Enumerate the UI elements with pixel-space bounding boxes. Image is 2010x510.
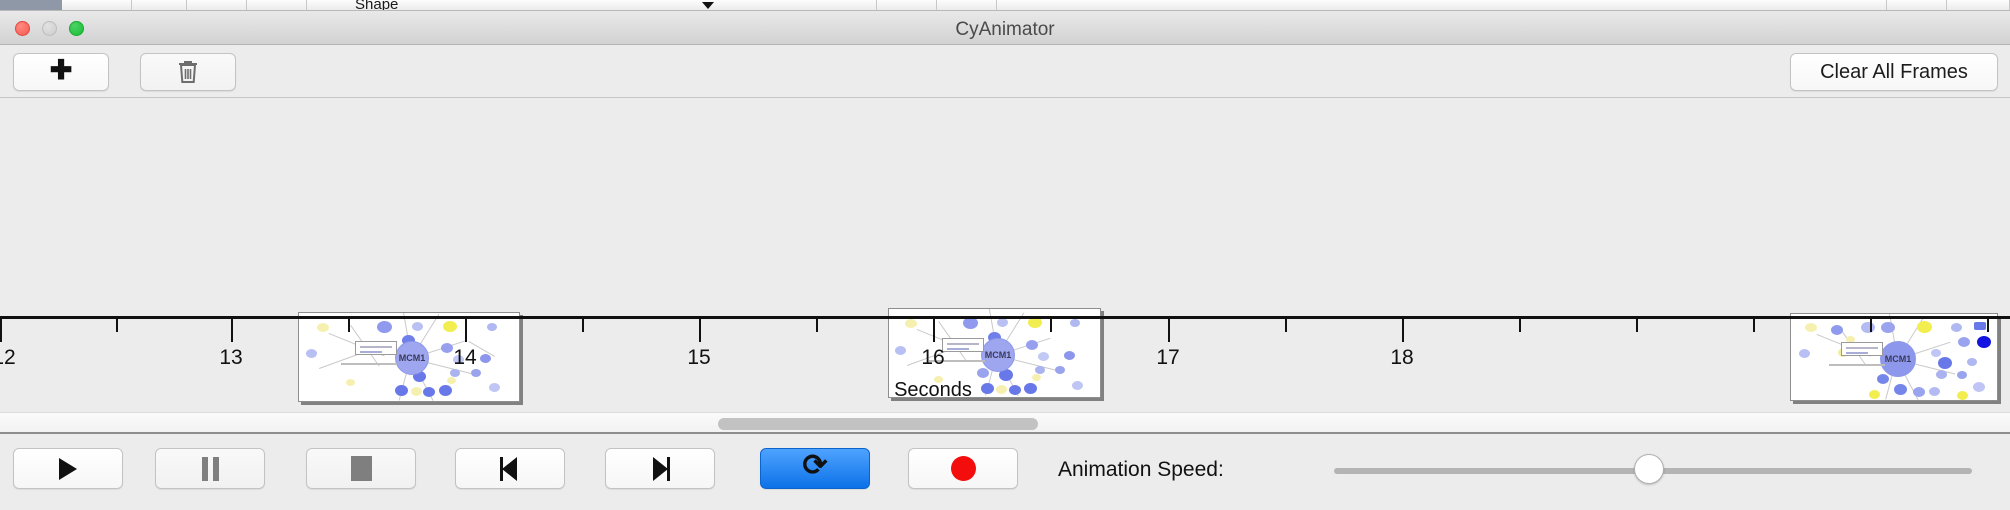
background-cell [62, 0, 132, 11]
background-cell [187, 0, 247, 11]
background-selected-cell [0, 0, 62, 11]
ruler-baseline [0, 316, 2010, 319]
pause-button[interactable] [155, 448, 265, 489]
ruler-axis-title: Seconds [894, 379, 972, 402]
record-button[interactable] [908, 448, 1018, 489]
ruler-tick-label: 17 [1156, 346, 1179, 370]
background-window-strip: Shape [0, 0, 2010, 11]
playback-controls-bar: ⟳ Animation Speed: [0, 434, 2010, 510]
background-window-label: Shape [355, 0, 398, 11]
clear-all-frames-button[interactable]: Clear All Frames [1790, 53, 1998, 91]
background-cell [937, 0, 997, 11]
background-sort-arrow-icon [702, 2, 714, 9]
timeline-horizontal-scrollbar[interactable] [0, 412, 2010, 434]
animation-speed-label: Animation Speed: [1058, 458, 1224, 482]
skip-forward-icon [649, 457, 671, 481]
background-cell [247, 0, 307, 11]
trash-icon [177, 59, 199, 85]
ruler-tick-label: 15 [687, 346, 710, 370]
record-icon [951, 456, 976, 481]
ruler-tick-label: 12 [0, 346, 16, 370]
frames-timeline[interactable]: MCM1 [0, 98, 2010, 412]
ruler-tick-label: 16 [921, 346, 944, 370]
skip-to-end-button[interactable] [605, 448, 715, 489]
frames-toolbar: ✚ Clear All Frames [0, 45, 2010, 98]
animation-speed-slider[interactable] [1334, 466, 1972, 474]
add-frame-button[interactable]: ✚ [13, 53, 109, 91]
plus-icon: ✚ [50, 57, 73, 84]
play-icon [59, 458, 77, 480]
loop-icon: ⟳ [802, 451, 827, 481]
stop-icon [351, 456, 372, 481]
skip-to-start-button[interactable] [455, 448, 565, 489]
background-cell [997, 0, 1887, 11]
scrollbar-thumb[interactable] [718, 418, 1038, 430]
pause-icon [202, 457, 219, 481]
skip-back-icon [499, 457, 521, 481]
play-button[interactable] [13, 448, 123, 489]
loop-button[interactable]: ⟳ [760, 448, 870, 489]
timeline-ruler[interactable]: 12 13 14 15 16 17 18 Seconds [0, 316, 2010, 412]
window-title: CyAnimator [0, 19, 2010, 41]
ruler-tick-label: 18 [1390, 346, 1413, 370]
cyanimator-window: CyAnimator ✚ Clear All Frames [0, 11, 2010, 510]
ruler-tick-label: 14 [453, 346, 476, 370]
slider-thumb[interactable] [1634, 454, 1664, 484]
background-cell [132, 0, 187, 11]
ruler-tick-label: 13 [219, 346, 242, 370]
stop-button[interactable] [306, 448, 416, 489]
window-titlebar: CyAnimator [0, 11, 2010, 45]
background-cell [877, 0, 937, 11]
background-cell [1947, 0, 2010, 11]
background-cell [1887, 0, 1947, 11]
delete-frame-button[interactable] [140, 53, 236, 91]
